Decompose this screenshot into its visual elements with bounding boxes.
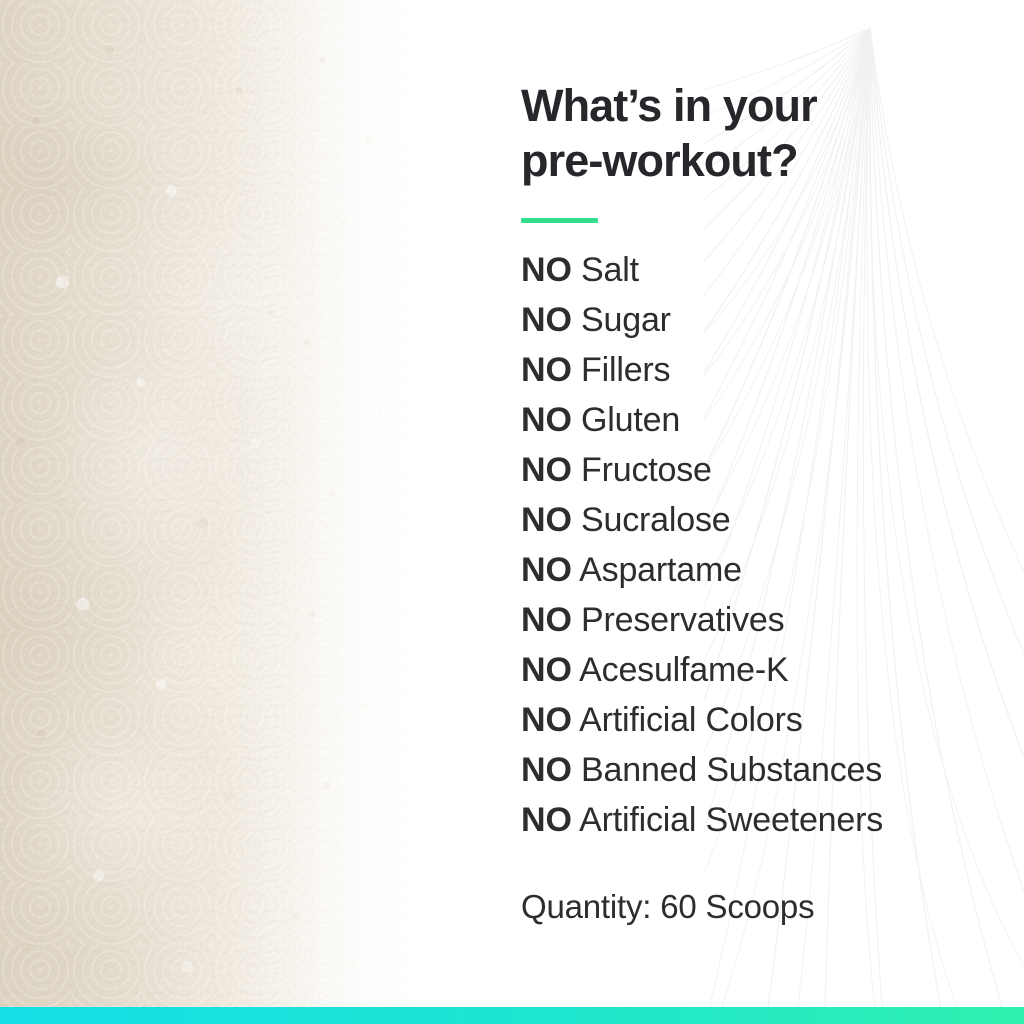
- quantity-label: Quantity: 60 Scoops: [521, 845, 991, 926]
- list-item: NO Sucralose: [521, 495, 991, 545]
- list-item: NO Gluten: [521, 395, 991, 445]
- powder-product-photo: [0, 0, 520, 1007]
- list-item: NO Acesulfame-K: [521, 645, 991, 695]
- ingredient-name: Preservatives: [572, 601, 785, 639]
- no-prefix: NO: [521, 451, 572, 489]
- ingredient-name: Fructose: [572, 451, 712, 489]
- no-prefix: NO: [521, 751, 572, 789]
- ingredient-name: Artificial Sweeteners: [572, 801, 883, 839]
- list-item: NO Preservatives: [521, 595, 991, 645]
- content-column: What’s in your pre-workout? NO SaltNO Su…: [521, 0, 991, 926]
- page-title-line-2: pre-workout?: [521, 133, 991, 188]
- page-title-line-1: What’s in your: [521, 78, 991, 133]
- ingredient-name: Gluten: [572, 401, 680, 439]
- no-prefix: NO: [521, 351, 572, 389]
- ingredient-name: Sucralose: [572, 501, 731, 539]
- ingredient-name: Banned Substances: [572, 751, 882, 789]
- no-prefix: NO: [521, 301, 572, 339]
- powder-fade-mask: [0, 0, 520, 1007]
- list-item: NO Artificial Sweeteners: [521, 795, 991, 845]
- list-item: NO Fillers: [521, 345, 991, 395]
- no-prefix: NO: [521, 701, 572, 739]
- ingredient-name: Artificial Colors: [572, 701, 803, 739]
- no-prefix: NO: [521, 501, 572, 539]
- list-item: NO Banned Substances: [521, 745, 991, 795]
- no-prefix: NO: [521, 401, 572, 439]
- list-item: NO Artificial Colors: [521, 695, 991, 745]
- ingredient-name: Aspartame: [572, 551, 742, 589]
- bottom-gradient-bar: [0, 1007, 1024, 1024]
- no-ingredients-list: NO SaltNO SugarNO FillersNO GlutenNO Fru…: [521, 223, 991, 845]
- no-prefix: NO: [521, 601, 572, 639]
- list-item: NO Fructose: [521, 445, 991, 495]
- page-title: What’s in your pre-workout?: [521, 0, 991, 189]
- ingredient-name: Acesulfame-K: [572, 651, 789, 689]
- list-item: NO Salt: [521, 245, 991, 295]
- no-prefix: NO: [521, 801, 572, 839]
- no-prefix: NO: [521, 651, 572, 689]
- ingredient-name: Sugar: [572, 301, 671, 339]
- ingredient-name: Salt: [572, 251, 639, 289]
- product-infographic: What’s in your pre-workout? NO SaltNO Su…: [0, 0, 1024, 1024]
- no-prefix: NO: [521, 551, 572, 589]
- list-item: NO Sugar: [521, 295, 991, 345]
- no-prefix: NO: [521, 251, 572, 289]
- list-item: NO Aspartame: [521, 545, 991, 595]
- ingredient-name: Fillers: [572, 351, 671, 389]
